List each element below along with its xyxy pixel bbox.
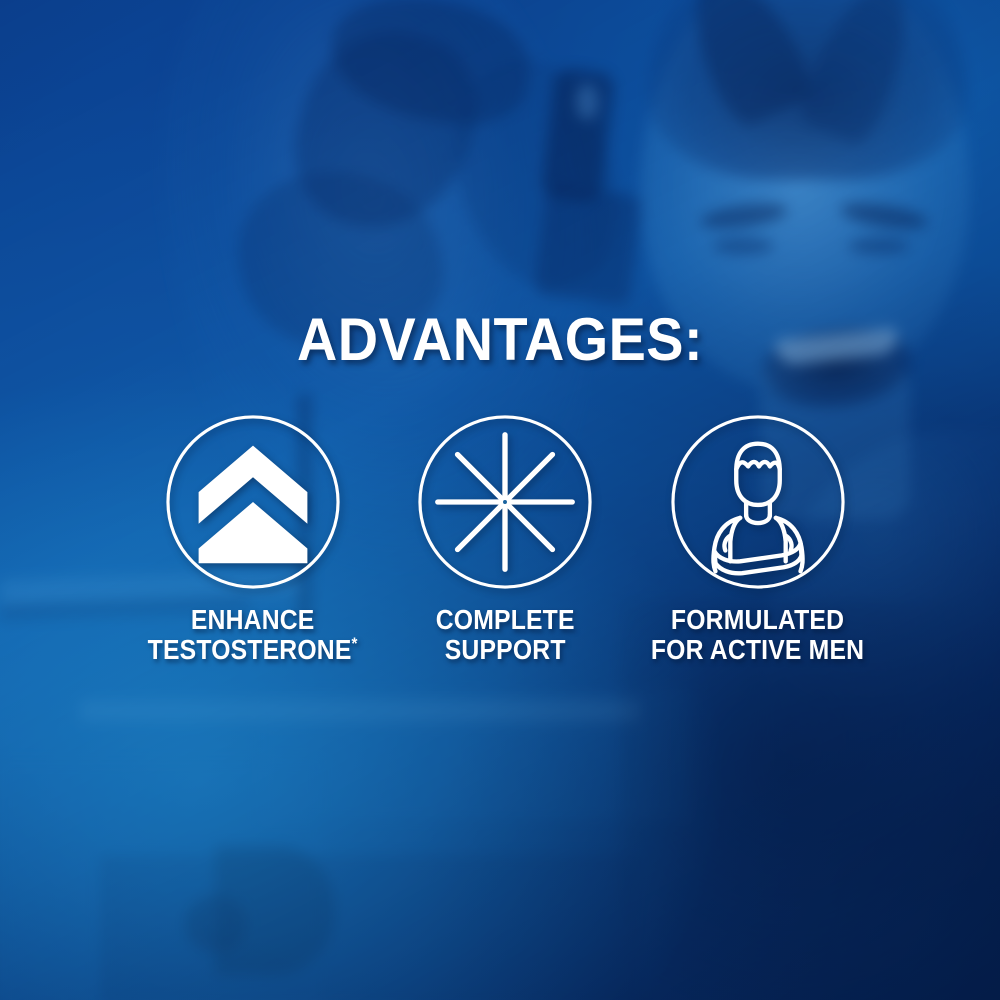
advantage-item-enhance-testosterone: ENHANCE TESTOSTERONE* [130, 412, 375, 664]
advantages-banner: ADVANTAGES: ENHANCE TESTOSTERONE* [0, 0, 1000, 1000]
advantage-label: COMPLETE SUPPORT [436, 606, 575, 664]
man-arms-crossed-icon [669, 412, 847, 592]
advantage-label: FORMULATED FOR ACTIVE MEN [651, 606, 864, 664]
advantage-item-formulated-for-active-men: FORMULATED FOR ACTIVE MEN [635, 412, 880, 664]
advantage-label-text: FORMULATED FOR ACTIVE MEN [651, 604, 864, 665]
advantage-label-text: COMPLETE SUPPORT [436, 604, 575, 665]
page-title: ADVANTAGES: [35, 310, 965, 370]
double-chevron-up-icon [164, 412, 342, 592]
advantage-label: ENHANCE TESTOSTERONE* [147, 606, 357, 664]
advantage-label-asterisk: * [351, 634, 357, 653]
starburst-asterisk-icon [416, 412, 594, 592]
advantage-item-complete-support: COMPLETE SUPPORT [383, 412, 628, 664]
advantages-list: ENHANCE TESTOSTERONE* [130, 412, 880, 664]
advantage-label-text: ENHANCE TESTOSTERONE [147, 604, 351, 665]
